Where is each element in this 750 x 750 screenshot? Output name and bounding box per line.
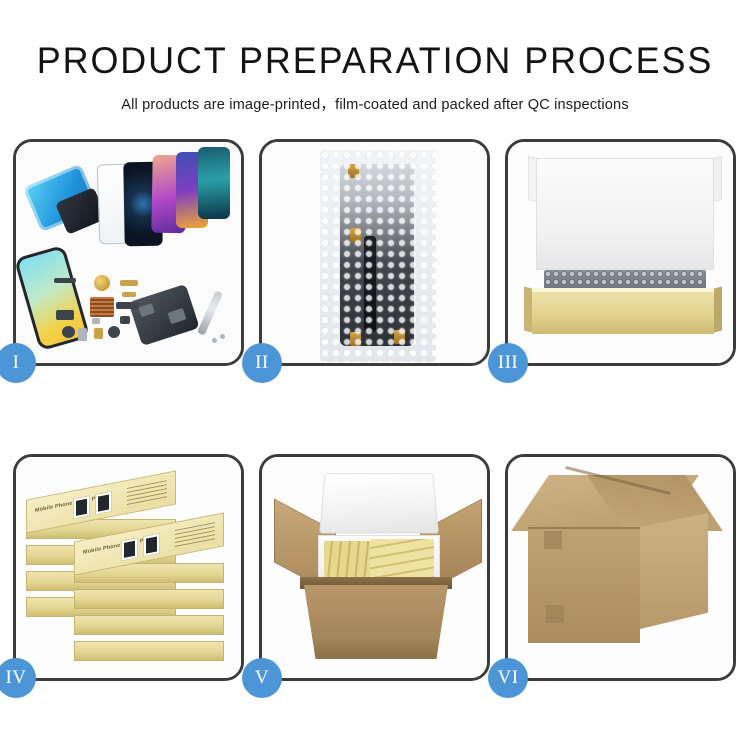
process-step-card-3[interactable]: III bbox=[505, 139, 736, 366]
page-subtitle: All products are image-printed，film-coat… bbox=[0, 93, 750, 114]
bubble-wrap-icon bbox=[320, 150, 436, 362]
screw-icon bbox=[212, 338, 217, 343]
step-badge-5: V bbox=[242, 658, 282, 698]
open-inner-box-illustration bbox=[508, 142, 733, 363]
carton-edge bbox=[528, 527, 640, 529]
small-part-icon bbox=[116, 302, 138, 309]
speaker-module-icon bbox=[94, 275, 110, 291]
yellow-box-front bbox=[532, 292, 714, 334]
step-image-1 bbox=[16, 142, 241, 363]
stacked-box bbox=[74, 615, 224, 635]
bubble-wrapped-screen-illustration bbox=[262, 142, 487, 363]
carton-front bbox=[304, 585, 448, 659]
stacked-box bbox=[74, 589, 224, 609]
process-step-card-5[interactable]: V bbox=[259, 454, 490, 681]
box-spec-lines bbox=[175, 522, 215, 550]
step-badge-4: IV bbox=[0, 658, 36, 698]
page-title: PRODUCT PREPARATION PROCESS bbox=[11, 42, 739, 79]
stacked-boxes-illustration: Mobile Phone Spare Parts Mobile Phone Sp… bbox=[16, 457, 241, 678]
infographic-page: PRODUCT PREPARATION PROCESS All products… bbox=[0, 0, 750, 750]
step-badge-3: III bbox=[488, 343, 528, 383]
step-image-6 bbox=[508, 457, 733, 678]
screw-icon bbox=[220, 334, 225, 339]
small-part-icon bbox=[54, 278, 76, 283]
step-image-5 bbox=[262, 457, 487, 678]
step-badge-6: VI bbox=[488, 658, 528, 698]
small-part-icon bbox=[92, 318, 100, 324]
tape-patch-icon bbox=[544, 531, 562, 549]
step-badge-2: II bbox=[242, 343, 282, 383]
box-spec-lines bbox=[127, 480, 167, 508]
small-part-icon bbox=[78, 328, 87, 341]
small-part-icon bbox=[62, 326, 75, 338]
box-lid-icon bbox=[536, 158, 714, 270]
step-image-4: Mobile Phone Spare Parts Mobile Phone Sp… bbox=[16, 457, 241, 678]
process-step-card-4[interactable]: Mobile Phone Spare Parts Mobile Phone Sp… bbox=[13, 454, 244, 681]
phone-display-teal-icon bbox=[198, 147, 230, 219]
phone-back-housing-icon bbox=[128, 284, 199, 346]
header: PRODUCT PREPARATION PROCESS All products… bbox=[0, 42, 750, 114]
process-step-card-6[interactable]: VI bbox=[505, 454, 736, 681]
small-part-icon bbox=[94, 328, 103, 339]
bubble-texture-overlay bbox=[320, 150, 436, 362]
step-badge-1: I bbox=[0, 343, 36, 383]
chip-array-icon bbox=[90, 297, 114, 317]
step-image-2 bbox=[262, 142, 487, 363]
sealed-carton-illustration bbox=[508, 457, 733, 678]
step-image-3 bbox=[508, 142, 733, 363]
small-part-icon bbox=[56, 310, 74, 320]
process-step-card-2[interactable]: II bbox=[259, 139, 490, 366]
small-part-icon bbox=[120, 280, 138, 286]
process-step-card-1[interactable]: I bbox=[13, 139, 244, 366]
tape-patch-icon bbox=[546, 605, 564, 623]
phones-and-parts-illustration bbox=[16, 142, 241, 363]
box-stack: Mobile Phone Spare Parts Mobile Phone Sp… bbox=[26, 471, 238, 667]
small-part-icon bbox=[108, 326, 120, 338]
carton-side-face bbox=[640, 513, 708, 629]
stacked-box bbox=[74, 641, 224, 661]
carton-with-foam-illustration bbox=[262, 457, 487, 678]
foam-lid-icon bbox=[319, 473, 439, 533]
screwdriver-icon bbox=[197, 290, 223, 335]
small-part-icon bbox=[122, 292, 136, 297]
small-part-icon bbox=[120, 316, 130, 324]
process-step-grid: I II bbox=[13, 139, 737, 681]
